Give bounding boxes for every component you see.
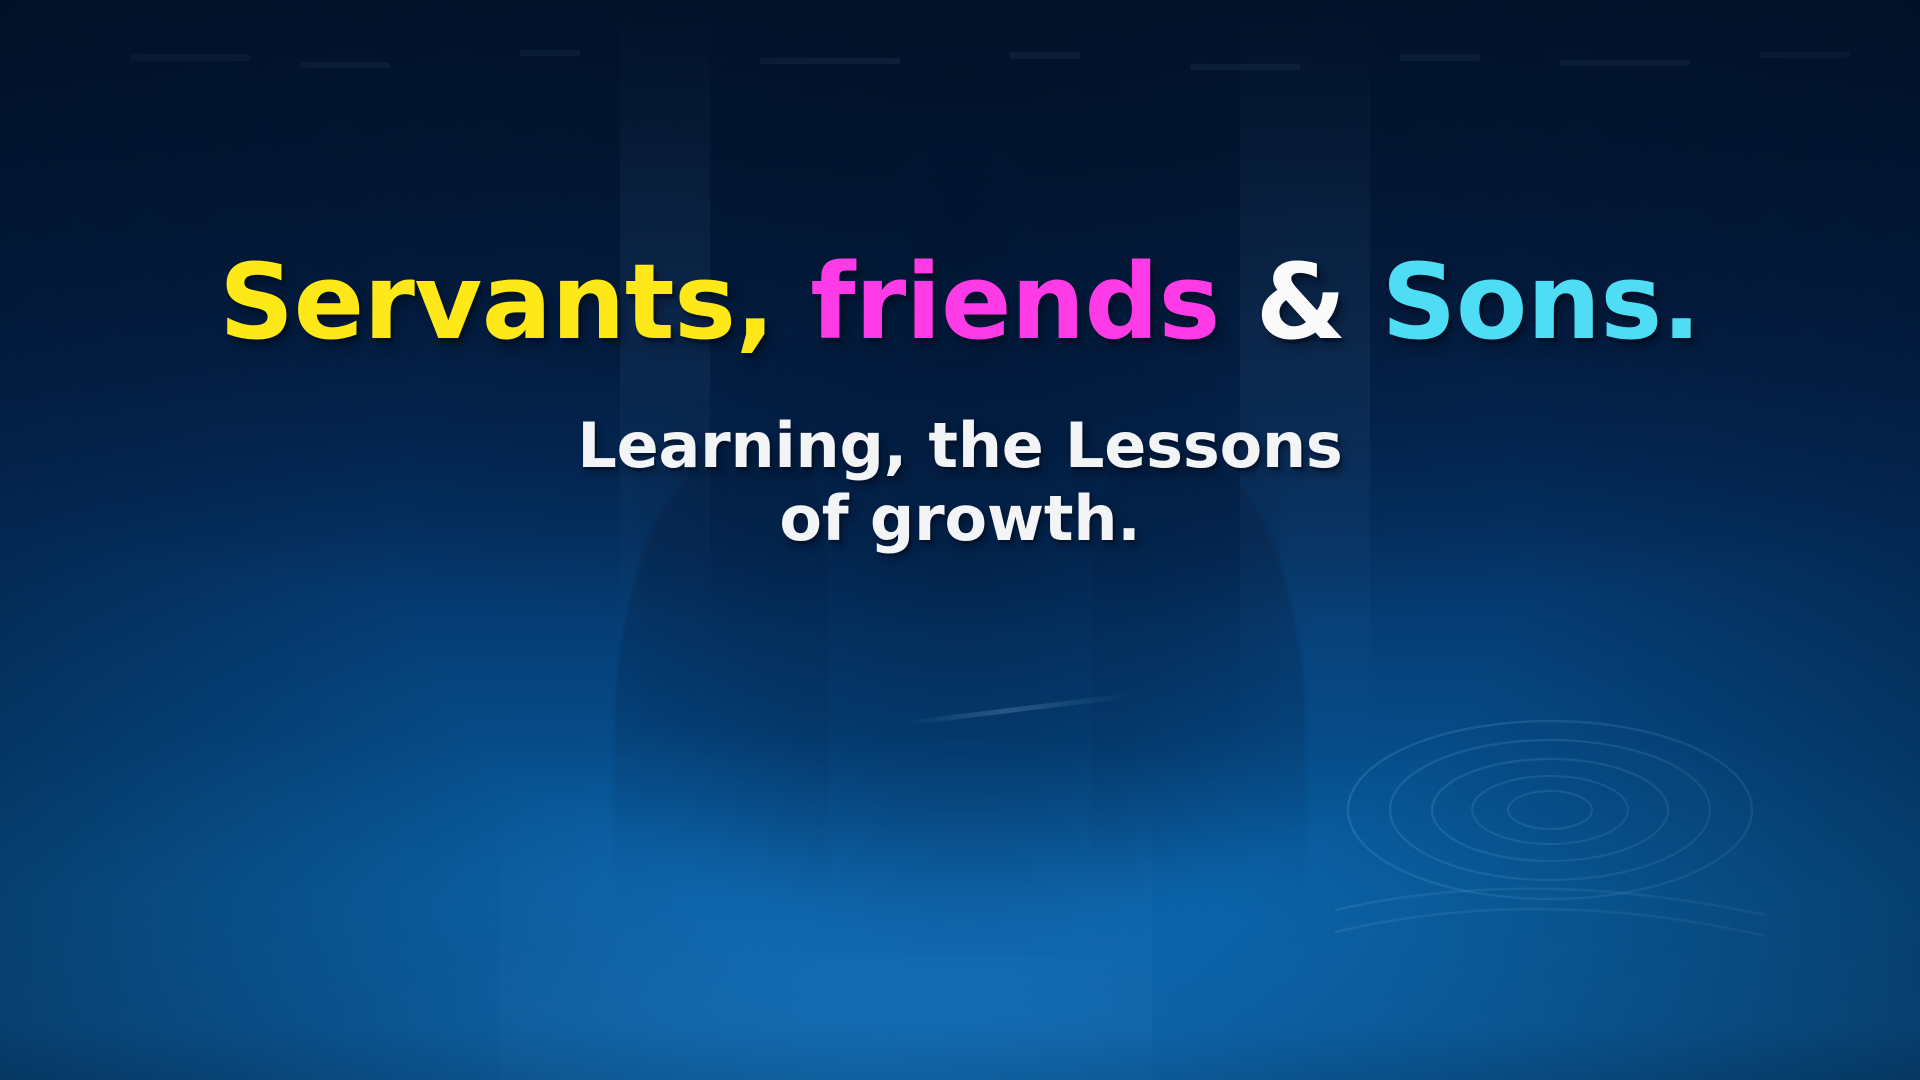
title-space-1 [775,241,811,363]
slide-title: Servants, friends & Sons. [219,248,1701,357]
slide-subtitle: Learning, the Lessons of growth. [540,409,1380,555]
title-space-2 [1220,241,1256,363]
title-segment-friends: friends [810,241,1220,363]
title-space-3 [1346,241,1382,363]
slide-content: Servants, friends & Sons. Learning, the … [0,0,1920,1080]
title-slide: Servants, friends & Sons. Learning, the … [0,0,1920,1080]
title-segment-ampersand: & [1256,241,1346,363]
title-segment-servants: Servants, [219,241,774,363]
title-segment-sons: Sons. [1382,241,1701,363]
